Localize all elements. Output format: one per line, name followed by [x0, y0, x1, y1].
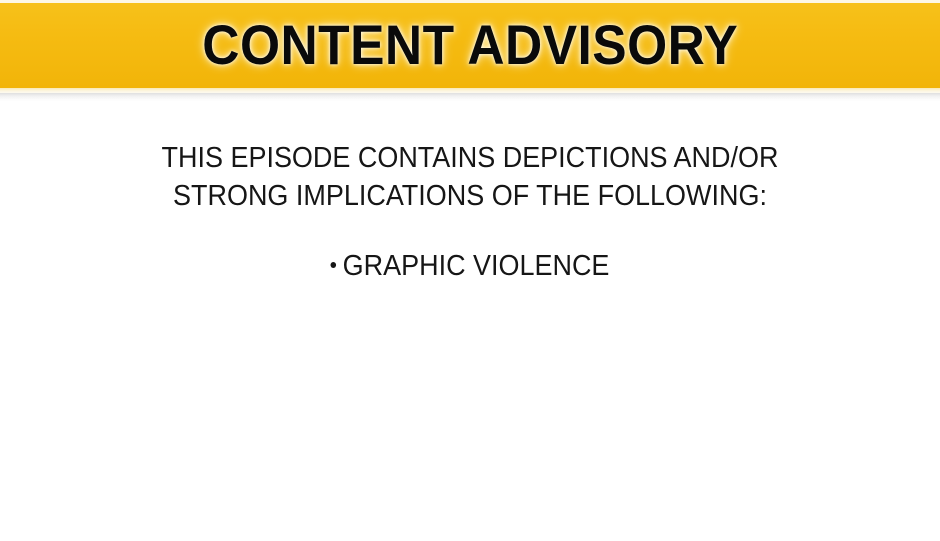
advisory-intro-line-2: STRONG IMPLICATIONS OF THE FOLLOWING:	[33, 177, 907, 215]
advisory-banner: CONTENT ADVISORY	[0, 0, 940, 101]
content-advisory-card: CONTENT ADVISORY THIS EPISODE CONTAINS D…	[0, 0, 940, 541]
advisory-item-label: GRAPHIC VIOLENCE	[343, 250, 610, 282]
advisory-intro: THIS EPISODE CONTAINS DEPICTIONS AND/OR …	[0, 139, 940, 215]
advisory-intro-line-1: THIS EPISODE CONTAINS DEPICTIONS AND/OR	[33, 139, 907, 177]
banner-title: CONTENT ADVISORY	[202, 12, 738, 80]
bullet-dot-icon	[331, 262, 337, 268]
banner-fill: CONTENT ADVISORY	[0, 3, 940, 88]
list-item: GRAPHIC VIOLENCE	[33, 248, 907, 284]
advisory-body: THIS EPISODE CONTAINS DEPICTIONS AND/OR …	[0, 101, 940, 541]
advisory-item-list: GRAPHIC VIOLENCE	[0, 248, 940, 284]
